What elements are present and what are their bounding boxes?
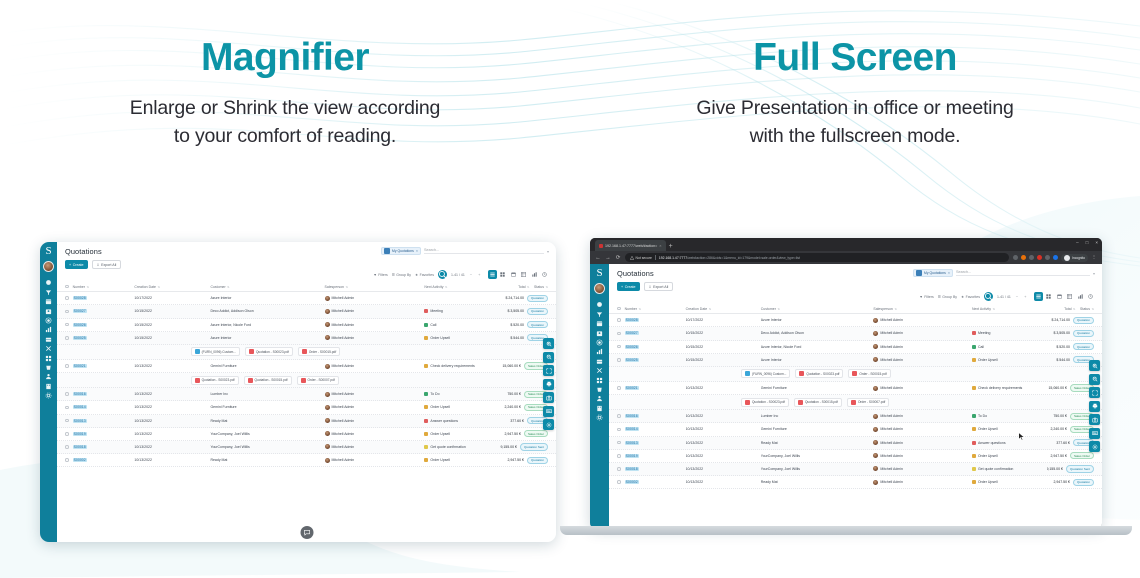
attachment-chip[interactable]: Quotation - S00023.pdf [245,347,293,356]
calendar-view-button[interactable] [509,270,518,279]
browser-chrome: 192.168.1.47:7777/web/#action= × + – □ ×… [590,238,1102,264]
address-bar[interactable]: Not secure 192.168.1.47:7777/web#action=… [625,253,1009,262]
cell-number[interactable]: S00016 [625,414,686,418]
table-row[interactable]: S0001610/13/2022Lumber IncMitchell Admin… [57,388,556,401]
quotation-number-link[interactable]: S00016 [73,392,87,396]
screenshot-button[interactable] [543,392,554,403]
funnel-icon: ▼ [919,295,922,299]
cell-number[interactable]: S00021 [73,364,135,368]
cell-customer: Ready Mat [210,419,324,423]
table-row[interactable]: S0001410/13/2022Gemini FurnitureMitchell… [609,423,1102,436]
fullscreen-icon [546,368,552,374]
group-by-button[interactable]: ☰ Group By [392,273,411,277]
cell-customer: Deco Addict, Addison Olson [761,331,874,335]
employees-icon[interactable] [45,373,52,380]
quotation-number-link[interactable]: S00016 [625,414,639,418]
gear-icon[interactable] [45,392,52,399]
list-view-button[interactable] [1034,292,1043,301]
magnifier-subtitle: Enlarge or Shrink the view according to … [0,95,570,150]
zoom-in-button[interactable] [1089,360,1100,371]
purchase-icon[interactable] [596,386,603,393]
table-row[interactable]: S0001310/13/2022Ready MatMitchell AdminA… [609,437,1102,450]
cell-number[interactable]: S00016 [73,392,135,396]
url-host: 192.168.1.47:7777 [659,256,687,260]
salesperson-avatar [325,392,330,397]
app-sidebar[interactable]: S [40,242,57,542]
cell-creation-date: 10/13/2022 [686,441,761,445]
attachment-chip[interactable]: Order - S00015.pdf [298,347,340,356]
new-tab-button[interactable]: + [669,243,673,251]
browser-extensions[interactable]: Incognito ⋮ [1013,254,1097,262]
cell-number[interactable]: S00027 [73,309,135,313]
zoom-out-control[interactable]: − [469,272,473,277]
export-all-button-laptop[interactable]: ⇩ Export All [644,282,674,291]
keyboard-button[interactable] [543,406,554,417]
zoom-out-button[interactable] [1089,374,1100,385]
extension-icon-4[interactable] [1045,255,1050,260]
cell-number[interactable]: S00014 [73,405,135,409]
print-button[interactable] [1089,401,1100,412]
magnifier-float-toolbar-laptop[interactable] [1089,360,1100,452]
cell-number[interactable]: S00002 [73,458,135,462]
cell-number[interactable]: S00028 [73,296,135,300]
cell-creation-date: 10/15/2022 [686,358,761,362]
quotation-number-link[interactable]: S00028 [73,296,87,300]
quotation-number-link[interactable]: S00021 [73,364,87,368]
sort-icon: ⇅ [1073,307,1076,311]
odoo-logo-laptop[interactable]: S [593,267,606,280]
cell-number[interactable]: S00027 [625,331,686,335]
table-row[interactable]: S0001610/13/2022Lumber IncMitchell Admin… [609,410,1102,423]
column-header-customer[interactable]: Customer⇅ [761,307,874,311]
cell-number[interactable]: S00021 [625,386,686,390]
create-button-laptop[interactable]: + Create [617,282,640,291]
cell-total-status: 377.60 €Quotation [500,417,548,424]
quotation-number-link[interactable]: S00027 [73,309,87,313]
incognito-indicator[interactable]: Incognito [1061,254,1088,262]
graph-view-button[interactable] [1076,292,1085,301]
cell-salesperson: Mitchell Admin [325,392,425,397]
cell-salesperson: Mitchell Admin [873,466,972,471]
calendar-icon[interactable] [596,320,603,327]
inventory-icon[interactable] [45,336,52,343]
activity-view-button[interactable] [1086,292,1095,301]
cell-number[interactable]: S00019 [73,432,135,436]
browser-tab[interactable]: 192.168.1.47:7777/web/#action= × [595,240,666,251]
row-checkbox[interactable] [65,445,69,449]
cell-total-status: 2,947.50 €Sales Order [500,430,548,437]
cell-total-status: 15,060.00 €Sales Order [500,362,548,369]
zoom-out-button[interactable] [543,352,554,363]
xls-file-icon [745,371,750,376]
filter-icon[interactable] [596,311,603,318]
keyboard-button[interactable] [1089,428,1100,439]
forward-icon[interactable]: → [605,255,611,261]
favorites-button-laptop[interactable]: ★ Favorites [961,295,980,299]
table-row[interactable]: S0001810/13/2022YourCompany, Joel Willis… [57,441,556,454]
attachment-chip[interactable]: Order - S00015.pdf [848,369,890,378]
search-facet-my-quotations[interactable]: My Quotations × [381,247,421,255]
column-header-next-activity[interactable]: Next Activity⇅ [972,307,1047,311]
cell-creation-date: 10/15/2022 [686,345,761,349]
omnibox-divider [655,255,656,260]
cell-total-status: $ 3,505.00Quotation [500,308,548,315]
kanban-view-button[interactable] [1044,292,1053,301]
salesperson-avatar [325,458,330,463]
incognito-label: Incognito [1072,256,1085,260]
salesperson-avatar [873,466,878,471]
chat-fab-button[interactable] [300,526,313,539]
sort-icon: ⇅ [777,307,780,311]
row-checkbox[interactable] [617,480,621,484]
total-amount: 15,060.00 € [502,364,521,368]
row-checkbox[interactable] [65,364,69,368]
fullscreen-button[interactable] [543,365,554,376]
pdf-file-icon [745,400,750,405]
calendar-view-button[interactable] [1055,292,1064,301]
row-checkbox[interactable] [617,467,621,471]
cell-number[interactable]: S00025 [73,336,135,340]
cell-number[interactable]: S00018 [73,445,135,449]
total-amount: 9,155.00 € [500,445,517,449]
row-checkbox[interactable] [65,432,69,436]
create-button[interactable]: + Create [65,260,88,269]
table-row[interactable]: S0001910/13/2022YourCompany, Joel Willis… [609,450,1102,463]
settings-button[interactable] [1089,441,1100,452]
reload-icon[interactable]: ⟳ [615,255,621,261]
facet-remove-icon[interactable]: × [416,249,418,253]
cell-next-activity: Meeting [972,331,1047,335]
attachment-chip[interactable]: Quotation - S00015.pdf [794,398,842,407]
attachment-label: (FURN_0096) Custom... [752,372,786,376]
quotation-number-link[interactable]: S00018 [625,467,639,471]
row-checkbox[interactable] [65,310,69,314]
messages-icon[interactable] [596,301,603,308]
table-row[interactable]: S0001410/13/2022Gemini FurnitureMitchell… [57,401,556,414]
purchase-icon[interactable] [45,364,52,371]
settings-button[interactable] [543,419,554,430]
filter-icon[interactable] [45,289,52,296]
quotation-number-link[interactable]: S00019 [625,454,639,458]
favorites-button[interactable]: ★ Favorites [415,273,434,277]
cell-number[interactable]: S00013 [625,441,686,445]
minimize-icon[interactable]: – [1076,240,1079,245]
cell-creation-date: 10/17/2022 [686,318,761,322]
table-row[interactable]: S0002610/15/2022Azure Interior, Nicole F… [609,341,1102,354]
status-badge: Quotation [527,321,548,328]
column-header-total[interactable]: Total⇅Status⇅ [500,285,548,289]
table-row[interactable]: S0001810/13/2022YourCompany, Joel Willis… [609,463,1102,476]
attachment-label: Quotation - S00015.pdf [255,378,288,382]
cell-number[interactable]: S00025 [625,358,686,362]
inventory-icon[interactable] [596,358,603,365]
cell-number[interactable]: S00026 [73,323,135,327]
zoom-in-control[interactable]: + [477,272,481,277]
table-row[interactable]: S0002610/15/2022Azure Interior, Nicole F… [57,319,556,332]
sort-icon: ⇅ [445,285,448,289]
table-row[interactable]: S0002110/13/2022Gemini FurnitureMitchell… [57,360,556,373]
column-header-creation-date[interactable]: Creation Date⇅ [686,307,761,311]
magnifier-button[interactable] [438,270,447,279]
cell-customer: YourCompany, Joel Willis [210,432,324,436]
salesperson-avatar [325,431,330,436]
row-checkbox[interactable] [617,358,621,362]
attachment-chip[interactable]: Quotation - S00023.pdf [795,369,843,378]
export-all-button[interactable]: ⇩ Export All [92,260,122,269]
quotation-number-link[interactable]: S00025 [625,358,639,362]
magnifier-button-laptop[interactable] [984,292,993,301]
row-checkbox[interactable] [617,386,621,390]
employees-icon[interactable] [596,395,603,402]
quotation-number-link[interactable]: S00013 [625,441,639,445]
sidebar-icon-list[interactable] [45,277,52,401]
mouse-cursor-icon [1018,432,1025,441]
row-checkbox[interactable] [65,392,69,396]
magnifier-icon [438,270,447,279]
magnifier-float-toolbar[interactable] [543,338,554,430]
quotation-number-link[interactable]: S00027 [625,331,639,335]
back-icon[interactable]: ← [595,255,601,261]
row-checkbox[interactable] [65,458,69,462]
cell-number[interactable]: S00002 [625,480,686,484]
attachment-row: (FURN_0096) Custom...Quotation - S00023.… [57,345,556,360]
extension-icon-3[interactable] [1037,255,1042,260]
total-amount: 2,947.50 € [1053,480,1070,484]
table-row[interactable]: S0002810/17/2022Azure InteriorMitchell A… [57,292,556,305]
quotation-number-link[interactable]: S00018 [73,445,87,449]
group-by-button-laptop[interactable]: ☰ Group By [938,295,957,299]
star-icon: ★ [961,295,964,299]
screenshot-button[interactable] [1089,414,1100,425]
table-row[interactable]: S0002710/15/2022Deco Addict, Addison Ols… [609,327,1102,340]
device-mockups: S Quotations My Quotations × [0,238,1140,578]
row-checkbox[interactable] [617,441,621,445]
settings-icon [1092,444,1098,450]
activity-view-button[interactable] [540,270,549,279]
column-label: Total [1064,307,1071,311]
cell-creation-date: 10/13/2022 [686,414,761,418]
quotation-number-link[interactable]: S00026 [73,323,87,327]
attachment-chip[interactable]: (FURN_0096) Custom... [191,347,240,356]
pivot-view-button[interactable] [1065,292,1074,301]
cell-number[interactable]: S00026 [625,345,686,349]
column-header-next-activity[interactable]: Next Activity⇅ [424,285,500,289]
chevron-down-icon[interactable]: ▾ [547,249,549,254]
user-avatar-laptop[interactable] [594,283,605,294]
row-checkbox[interactable] [617,332,621,336]
cell-creation-date: 10/13/2022 [686,386,761,390]
row-checkbox[interactable] [65,406,69,410]
cell-total-status: $ 544.00Quotation [1047,356,1094,363]
reports-icon[interactable] [596,348,603,355]
table-row[interactable]: S0002110/13/2022Gemini FurnitureMitchell… [609,382,1102,395]
close-icon[interactable]: × [659,243,661,248]
filters-button[interactable]: ▼ Filters [373,273,387,277]
search-input[interactable]: Search... [424,248,544,254]
row-checkbox[interactable] [65,323,69,327]
contacts-icon[interactable] [45,308,52,315]
xls-file-icon [195,349,200,354]
sidebar-icon-list-laptop[interactable] [596,299,603,423]
facet-remove-icon[interactable]: × [948,271,950,275]
total-amount: 2,947.50 € [507,458,524,462]
table-row[interactable]: S0000210/13/2022Ready MatMitchell AdminO… [609,476,1102,489]
attachment-chip[interactable]: Order - S00007.pdf [847,398,889,407]
bookmark-star-icon[interactable] [1013,255,1018,260]
window-controls[interactable]: – □ × [1076,240,1098,245]
cell-next-activity: Order Upsell [424,432,500,436]
row-checkbox[interactable] [617,345,621,349]
table-row[interactable]: S0002510/15/2022Azure InteriorMitchell A… [57,332,556,345]
attachment-chip[interactable]: Quotation - S00023.pdf [741,398,789,407]
settings-icon[interactable] [45,317,52,324]
extension-icon-5[interactable] [1053,255,1058,260]
activity-icon [972,427,976,431]
activity-icon [424,336,428,340]
close-window-icon[interactable]: × [1095,240,1098,245]
favorites-label: Favorites [966,295,980,299]
building-icon[interactable] [596,405,603,412]
table-row[interactable]: S0000210/13/2022Ready MatMitchell AdminO… [57,454,556,467]
profile-avatar-icon [1064,255,1070,261]
view-switcher[interactable] [488,270,550,279]
scissors-icon[interactable] [596,367,603,374]
contacts-icon[interactable] [596,330,603,337]
calendar-icon[interactable] [45,298,52,305]
gear-icon[interactable] [596,414,603,421]
cell-number[interactable]: S00014 [625,427,686,431]
cell-salesperson: Mitchell Admin [873,331,972,336]
cell-salesperson: Mitchell Admin [873,357,972,362]
row-checkbox[interactable] [617,428,621,432]
row-checkbox[interactable] [65,336,69,340]
table-row[interactable]: S0002710/15/2022Deco Addict, Addison Ols… [57,305,556,318]
cell-next-activity: Check delivery requirements [972,386,1047,390]
pdf-file-icon [248,378,253,383]
fullscreen-button[interactable] [1089,387,1100,398]
magnifier-subtitle-line2: to your comfort of reading. [0,123,570,151]
sort-icon: ⇅ [87,285,90,289]
column-header-salesperson[interactable]: Salesperson⇅ [325,285,425,289]
cell-number[interactable]: S00018 [625,467,686,471]
row-checkbox[interactable] [617,414,621,418]
pivot-view-button[interactable] [519,270,528,279]
attachment-chip[interactable]: Order - S00007.pdf [297,376,339,385]
column-header-creation-date[interactable]: Creation Date⇅ [134,285,210,289]
row-checkbox[interactable] [617,318,621,322]
reports-icon[interactable] [45,326,52,333]
select-all-checkbox[interactable] [65,285,69,289]
quotation-number-link[interactable]: S00026 [625,345,639,349]
action-buttons: + Create ⇩ Export All [65,260,549,269]
quotation-number-link[interactable]: S00021 [625,386,639,390]
column-header-customer[interactable]: Customer⇅ [210,285,324,289]
print-button[interactable] [543,379,554,390]
cell-number[interactable]: S00028 [625,318,686,322]
attachment-chip[interactable]: Quotation - S00015.pdf [244,376,292,385]
quotation-number-link[interactable]: S00019 [73,432,87,436]
attachment-chip[interactable]: (FURN_0096) Custom... [741,369,790,378]
cell-number[interactable]: S00013 [73,419,135,423]
browser-menu-icon[interactable]: ⋮ [1091,255,1097,261]
not-secure-indicator[interactable]: Not secure [630,256,652,260]
column-header-salesperson[interactable]: Salesperson⇅ [873,307,972,311]
column-header-number[interactable]: Number⇅ [625,307,686,311]
search-panel[interactable]: My Quotations × Search... ▾ [381,247,549,255]
quotation-number-link[interactable]: S00002 [73,458,87,462]
zoom-in-control-laptop[interactable]: + [1023,294,1027,299]
quotation-number-link[interactable]: S00002 [625,480,639,484]
search-facet-my-quotations-laptop[interactable]: My Quotations × [913,269,953,277]
row-checkbox[interactable] [65,296,69,300]
extension-icon-2[interactable] [1029,255,1034,260]
zoom-out-control-laptop[interactable]: − [1015,294,1019,299]
zoom-out-icon [546,354,552,360]
keyboard-icon [1092,430,1098,436]
scissors-icon[interactable] [45,345,52,352]
table-row[interactable]: S0001910/13/2022YourCompany, Joel Willis… [57,428,556,441]
funnel-icon: ▼ [373,273,376,277]
app-sidebar-laptop[interactable]: S [590,264,609,528]
filters-button-laptop[interactable]: ▼ Filters [919,295,933,299]
view-switcher-laptop[interactable] [1034,292,1096,301]
column-header-total[interactable]: Total⇅Status⇅ [1047,307,1094,311]
row-checkbox[interactable] [617,454,621,458]
user-avatar[interactable] [43,261,54,272]
chevron-down-icon[interactable]: ▾ [1093,271,1095,276]
table-row[interactable]: S0002810/17/2022Azure InteriorMitchell A… [609,314,1102,327]
quotation-number-link[interactable]: S00028 [625,318,639,322]
feature-showcase-page: Magnifier Enlarge or Shrink the view acc… [0,0,1140,578]
building-icon[interactable] [45,383,52,390]
attachment-label: Order - S00015.pdf [859,372,886,376]
extension-icon-1[interactable] [1021,255,1026,260]
cell-creation-date: 10/13/2022 [686,467,761,471]
quotation-number-link[interactable]: S00025 [73,336,87,340]
total-amount: $ 520.00 [1056,345,1070,349]
grid-icon[interactable] [45,355,52,362]
settings-icon[interactable] [596,339,603,346]
messages-icon[interactable] [45,279,52,286]
grid-icon[interactable] [596,377,603,384]
maximize-icon[interactable]: □ [1086,240,1089,245]
pager-label: 1-41 / 41 [451,273,465,277]
cell-number[interactable]: S00019 [625,454,686,458]
quotation-number-link[interactable]: S00014 [73,405,87,409]
zoom-in-button[interactable] [543,338,554,349]
list-view-button[interactable] [488,270,497,279]
quotation-number-link[interactable]: S00014 [625,427,639,431]
pager-label-laptop: 1-41 / 41 [997,295,1011,299]
attachment-chip[interactable]: Quotation - S00023.pdf [191,376,239,385]
cell-customer: Deco Addict, Addison Olson [210,309,324,313]
cell-next-activity: Answer questions [972,441,1047,445]
odoo-logo[interactable]: S [42,245,55,258]
graph-view-button[interactable] [530,270,539,279]
kanban-view-button[interactable] [498,270,507,279]
quotation-number-link[interactable]: S00013 [73,419,87,423]
select-all-checkbox[interactable] [617,307,621,311]
search-input-laptop[interactable]: Search... [956,270,1090,276]
table-row[interactable]: S0001310/13/2022Ready MatMitchell AdminA… [57,415,556,428]
column-label: Salesperson [873,307,892,311]
table-row[interactable]: S0002510/15/2022Azure InteriorMitchell A… [609,354,1102,367]
row-checkbox[interactable] [65,419,69,423]
column-header-number[interactable]: Number⇅ [73,285,135,289]
salesperson-avatar [873,344,878,349]
column-label: Number [73,285,85,289]
search-panel-laptop[interactable]: My Quotations × Search... ▾ [913,269,1095,277]
